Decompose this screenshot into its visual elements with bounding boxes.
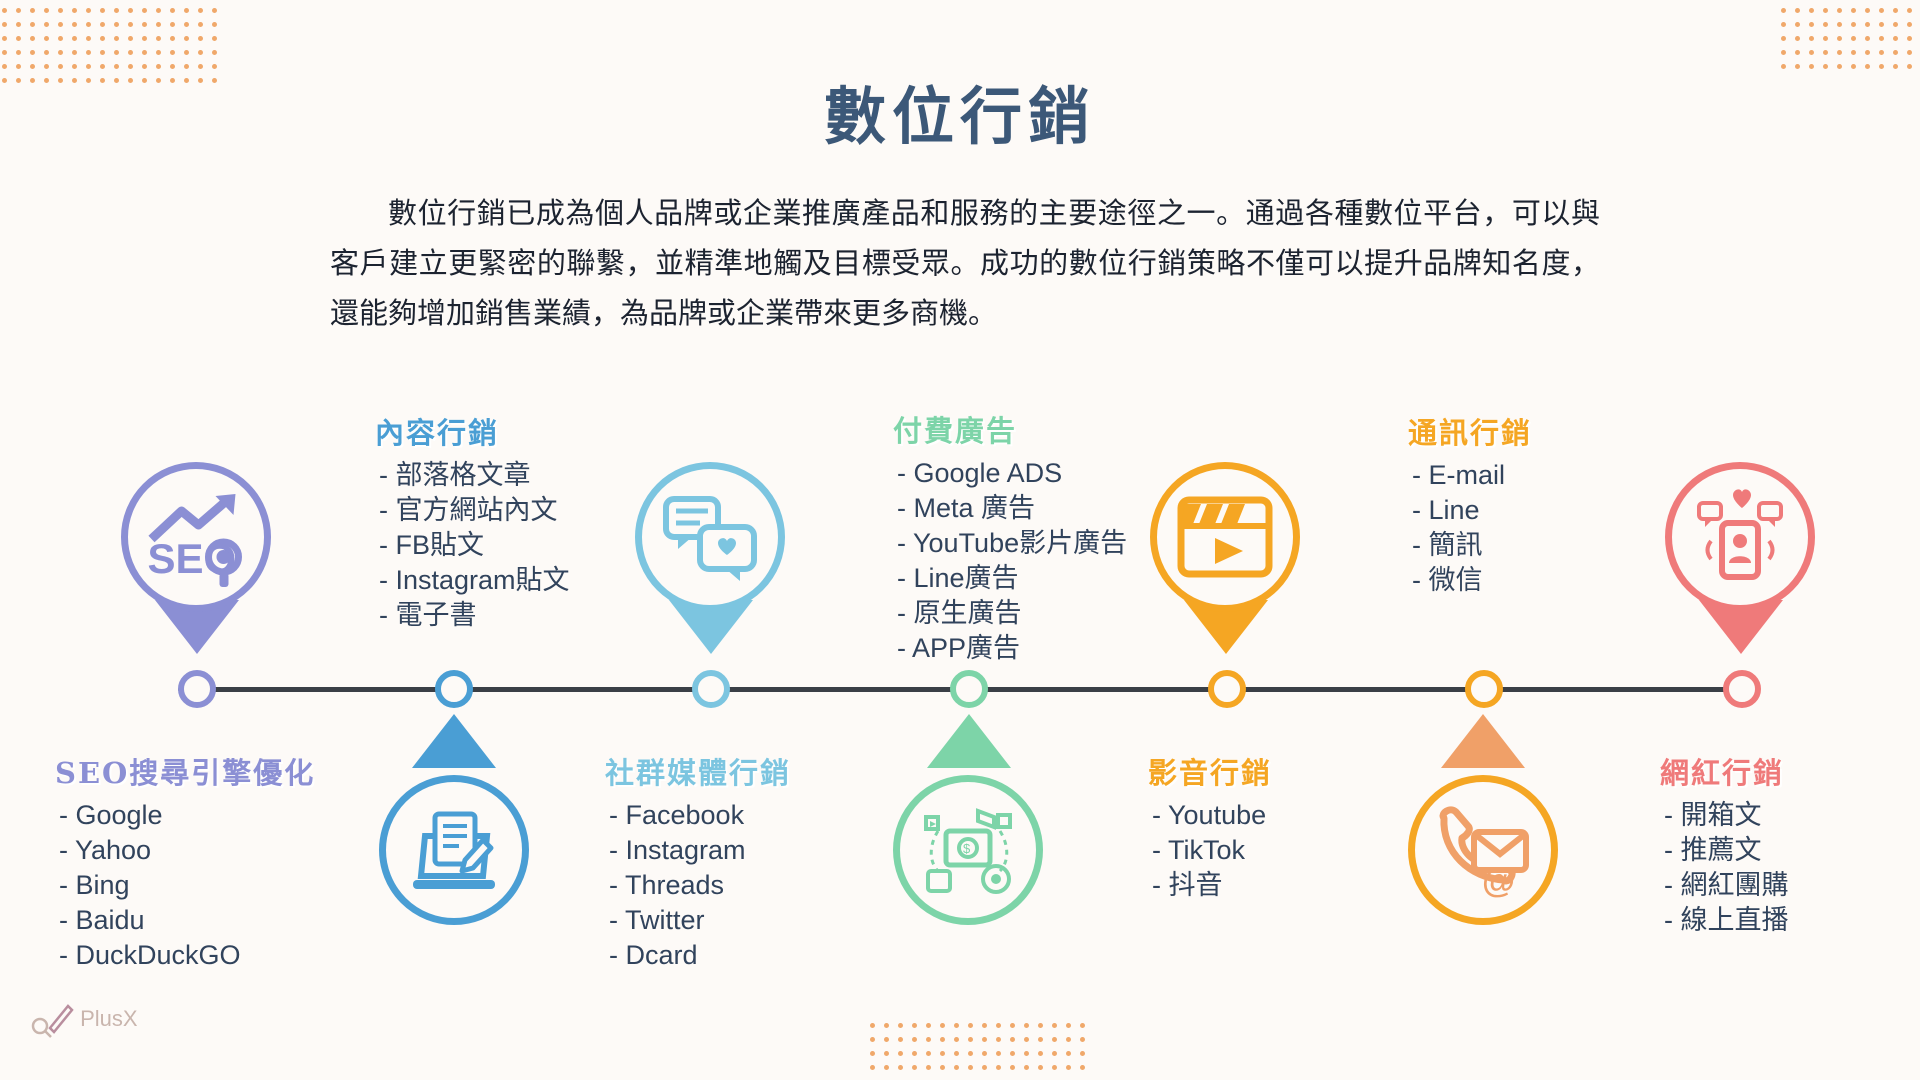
list-item: - Instagram xyxy=(605,833,791,868)
list-item: - 原生廣告 xyxy=(893,596,1127,631)
list-item: - DuckDuckGO xyxy=(55,938,315,973)
list-item: - 推薦文 xyxy=(1660,833,1789,868)
list-item: - 電子書 xyxy=(375,598,570,633)
messaging-text-block: 通訊行銷 - E-mail- Line- 簡訊- 微信 xyxy=(1408,410,1532,598)
video-items: - Youtube- TikTok- 抖音 xyxy=(1148,798,1272,903)
influencer-text-block: 網紅行銷 - 開箱文- 推薦文- 網紅團購- 線上直播 xyxy=(1660,750,1789,938)
timeline-node-content[interactable] xyxy=(435,670,473,708)
video-heading: 影音行銷 xyxy=(1148,750,1272,792)
list-item: - Dcard xyxy=(605,938,791,973)
influencer-balloon xyxy=(1665,462,1815,612)
paidads-heading: 付費廣告 xyxy=(893,408,1127,450)
phone-email-icon: @ xyxy=(1430,802,1536,898)
seo-balloon: SEO xyxy=(121,462,271,612)
list-item: - FB貼文 xyxy=(375,528,570,563)
document-pen-icon xyxy=(403,802,505,898)
intro-paragraph: 數位行銷已成為個人品牌或企業推廣產品和服務的主要途徑之一。通過各種數位平台，可以… xyxy=(330,188,1600,338)
chat-bubbles-icon xyxy=(660,491,760,583)
messaging-heading: 通訊行銷 xyxy=(1408,410,1532,452)
timeline-node-influencer[interactable] xyxy=(1723,670,1761,708)
list-item: - E-mail xyxy=(1408,458,1532,493)
social-balloon xyxy=(635,462,785,612)
paidads-text-block: 付費廣告 - Google ADS- Meta 廣告- YouTube影片廣告-… xyxy=(893,408,1127,666)
paidads-pointer xyxy=(927,714,1011,768)
list-item: - 簡訊 xyxy=(1408,528,1532,563)
list-item: - APP廣告 xyxy=(893,631,1127,666)
seo-chart-icon: SEO xyxy=(144,487,249,587)
messaging-pointer xyxy=(1441,714,1525,768)
list-item: - Yahoo xyxy=(55,833,315,868)
timeline-node-social[interactable] xyxy=(692,670,730,708)
content-heading: 內容行銷 xyxy=(375,410,570,452)
list-item: - Meta 廣告 xyxy=(893,491,1127,526)
watermark-logo: PlusX xyxy=(28,1000,138,1040)
list-item: - Twitter xyxy=(605,903,791,938)
content-balloon xyxy=(379,775,529,925)
list-item: - Facebook xyxy=(605,798,791,833)
video-play-icon xyxy=(1175,494,1275,580)
svg-text:$: $ xyxy=(963,841,971,856)
content-text-block: 內容行銷 - 部落格文章- 官方網站內文- FB貼文- Instagram貼文-… xyxy=(375,410,570,633)
influencer-items: - 開箱文- 推薦文- 網紅團購- 線上直播 xyxy=(1660,798,1789,938)
list-item: - Bing xyxy=(55,868,315,903)
timeline-node-seo[interactable] xyxy=(178,670,216,708)
social-heading: 社群媒體行銷 xyxy=(605,750,791,792)
influencer-heading: 網紅行銷 xyxy=(1660,750,1789,792)
megaphone-screen-icon: $ xyxy=(916,801,1020,899)
list-item: - Google xyxy=(55,798,315,833)
list-item: - Instagram貼文 xyxy=(375,563,570,598)
seo-items: - Google- Yahoo- Bing- Baidu- DuckDuckGO xyxy=(55,798,315,973)
timeline-node-messaging[interactable] xyxy=(1465,670,1503,708)
list-item: - 抖音 xyxy=(1148,868,1272,903)
decorative-dots-top-right xyxy=(1781,8,1912,69)
list-item: - 線上直播 xyxy=(1660,903,1789,938)
social-text-block: 社群媒體行銷 - Facebook- Instagram- Threads- T… xyxy=(605,750,791,973)
timeline-node-paidads[interactable] xyxy=(950,670,988,708)
svg-text:@: @ xyxy=(1482,862,1515,898)
list-item: - TikTok xyxy=(1148,833,1272,868)
decorative-dots-bottom xyxy=(870,1023,1085,1070)
list-item: - 部落格文章 xyxy=(375,458,570,493)
list-item: - Youtube xyxy=(1148,798,1272,833)
content-pointer xyxy=(412,714,496,768)
messaging-balloon: @ xyxy=(1408,775,1558,925)
list-item: - YouTube影片廣告 xyxy=(893,526,1127,561)
social-items: - Facebook- Instagram- Threads- Twitter-… xyxy=(605,798,791,973)
paidads-balloon: $ xyxy=(893,775,1043,925)
list-item: - 微信 xyxy=(1408,563,1532,598)
plusx-mark-icon xyxy=(28,1000,74,1040)
list-item: - 網紅團購 xyxy=(1660,868,1789,903)
list-item: - Baidu xyxy=(55,903,315,938)
seo-heading: SEO搜尋引擎優化 xyxy=(55,750,315,792)
content-items: - 部落格文章- 官方網站內文- FB貼文- Instagram貼文- 電子書 xyxy=(375,458,570,633)
video-balloon xyxy=(1150,462,1300,612)
video-text-block: 影音行銷 - Youtube- TikTok- 抖音 xyxy=(1148,750,1272,903)
list-item: - Threads xyxy=(605,868,791,903)
page-title: 數位行銷 xyxy=(0,66,1920,156)
timeline-node-video[interactable] xyxy=(1208,670,1246,708)
list-item: - Google ADS xyxy=(893,456,1127,491)
list-item: - Line廣告 xyxy=(893,561,1127,596)
list-item: - 官方網站內文 xyxy=(375,493,570,528)
watermark-label: PlusX xyxy=(80,1006,137,1031)
phone-heart-icon xyxy=(1689,489,1791,585)
seo-text-block: SEO搜尋引擎優化 - Google- Yahoo- Bing- Baidu- … xyxy=(55,750,315,973)
messaging-items: - E-mail- Line- 簡訊- 微信 xyxy=(1408,458,1532,598)
list-item: - Line xyxy=(1408,493,1532,528)
list-item: - 開箱文 xyxy=(1660,798,1789,833)
paidads-items: - Google ADS- Meta 廣告- YouTube影片廣告- Line… xyxy=(893,456,1127,666)
